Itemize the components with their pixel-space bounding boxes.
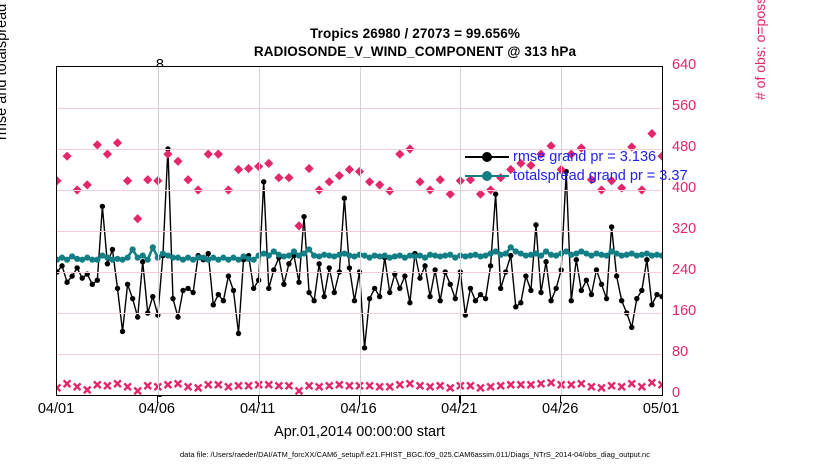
obs-assimilated-marker bbox=[134, 388, 141, 395]
obs-assimilated-marker bbox=[144, 382, 151, 389]
obs-assimilated-marker bbox=[497, 382, 504, 389]
obs-possible-marker bbox=[415, 177, 424, 186]
series-marker bbox=[135, 314, 140, 319]
obs-possible-marker bbox=[214, 150, 223, 159]
series-marker bbox=[185, 286, 190, 291]
series-marker bbox=[498, 286, 503, 291]
legend-item-totalspread[interactable]: totalspread grand pr = 3.37 bbox=[465, 166, 715, 185]
series-marker bbox=[216, 292, 221, 297]
series-marker bbox=[80, 275, 85, 280]
series-marker bbox=[115, 286, 120, 291]
y-axis-right-tick-label: 640 bbox=[672, 57, 722, 73]
series-marker bbox=[377, 294, 382, 299]
series-marker bbox=[553, 286, 558, 291]
y-axis-right-tick-label: 560 bbox=[672, 98, 722, 114]
obs-possible-marker bbox=[83, 180, 92, 189]
series-marker bbox=[251, 257, 257, 263]
series-marker bbox=[332, 290, 337, 295]
series-marker bbox=[74, 265, 79, 270]
obs-possible-marker bbox=[375, 180, 384, 189]
series-marker bbox=[120, 329, 125, 334]
obs-assimilated-marker bbox=[306, 382, 313, 389]
series-marker bbox=[322, 294, 327, 299]
series-marker bbox=[362, 345, 367, 350]
series-marker bbox=[448, 282, 453, 287]
series-marker bbox=[528, 288, 533, 293]
series-marker bbox=[226, 273, 231, 278]
obs-possible-marker bbox=[345, 165, 354, 174]
series-marker bbox=[518, 300, 523, 305]
obs-assimilated-marker bbox=[467, 382, 474, 389]
obs-assimilated-marker bbox=[598, 384, 605, 391]
series-marker bbox=[538, 253, 544, 259]
obs-assimilated-marker bbox=[538, 380, 545, 387]
obs-possible-marker bbox=[123, 176, 132, 185]
obs-possible-marker bbox=[335, 171, 344, 180]
series-marker bbox=[548, 298, 553, 303]
obs-assimilated-marker bbox=[336, 381, 343, 388]
chart-legend: rmse grand pr = 3.136 totalspread grand … bbox=[465, 147, 715, 185]
series-marker bbox=[619, 298, 624, 303]
plot-area: rmse grand pr = 3.136 totalspread grand … bbox=[56, 66, 663, 396]
obs-assimilated-marker bbox=[568, 381, 575, 388]
legend-label-rmse: rmse grand pr = 3.136 bbox=[513, 149, 656, 165]
series-marker bbox=[180, 288, 185, 293]
obs-assimilated-marker bbox=[649, 379, 656, 386]
x-axis-tick-label: 04/11 bbox=[223, 401, 293, 417]
legend-line-sample-totalspread bbox=[465, 169, 509, 183]
series-marker bbox=[367, 296, 372, 301]
series-marker bbox=[190, 290, 195, 295]
series-marker bbox=[569, 298, 574, 303]
series-marker bbox=[589, 292, 594, 297]
series-marker bbox=[64, 280, 69, 285]
series-marker bbox=[599, 282, 604, 287]
series-marker bbox=[503, 250, 509, 256]
series-marker bbox=[130, 246, 136, 252]
series-marker bbox=[634, 296, 639, 301]
series-marker bbox=[306, 246, 312, 252]
series-marker bbox=[604, 296, 609, 301]
obs-assimilated-marker bbox=[628, 380, 635, 387]
obs-possible-marker bbox=[244, 164, 253, 173]
obs-possible-marker bbox=[143, 175, 152, 184]
obs-assimilated-marker bbox=[326, 382, 333, 389]
series-marker bbox=[327, 265, 332, 270]
series-marker bbox=[59, 263, 64, 268]
obs-assimilated-marker bbox=[296, 388, 303, 395]
y-axis-right-tick-label: 0 bbox=[672, 385, 722, 401]
obs-assimilated-marker bbox=[507, 381, 514, 388]
vertical-gridline bbox=[259, 67, 260, 395]
obs-assimilated-marker bbox=[366, 382, 373, 389]
y-axis-right-tick-label: 80 bbox=[672, 344, 722, 360]
series-marker bbox=[407, 300, 412, 305]
y-axis-left-label: rmse and totalspread bbox=[0, 4, 10, 140]
series-marker bbox=[90, 282, 95, 287]
obs-possible-marker bbox=[284, 173, 293, 182]
chart-title-line1: Tropics 26980 / 27073 = 99.656% bbox=[0, 26, 830, 41]
series-marker bbox=[140, 259, 145, 264]
obs-assimilated-marker bbox=[205, 381, 212, 388]
x-axis-tick-label: 04/06 bbox=[122, 401, 192, 417]
obs-possible-marker bbox=[325, 177, 334, 186]
obs-possible-marker bbox=[647, 129, 656, 138]
series-marker bbox=[306, 290, 311, 295]
series-marker bbox=[533, 222, 538, 227]
x-axis-tick-label: 04/01 bbox=[21, 401, 91, 417]
series-marker bbox=[453, 296, 458, 301]
x-axis-tick-label: 04/16 bbox=[324, 401, 394, 417]
series-marker bbox=[644, 257, 649, 262]
obs-possible-marker bbox=[62, 152, 71, 161]
obs-assimilated-marker bbox=[528, 381, 535, 388]
figure-canvas: Tropics 26980 / 27073 = 99.656% RADIOSON… bbox=[0, 0, 830, 470]
series-marker bbox=[427, 294, 432, 299]
obs-assimilated-marker bbox=[437, 382, 444, 389]
y-axis-right-label: # of obs: o=possible; ×=assimilated bbox=[752, 0, 768, 100]
obs-assimilated-marker bbox=[64, 380, 71, 387]
obs-assimilated-marker bbox=[417, 382, 424, 389]
obs-assimilated-marker bbox=[124, 383, 131, 390]
series-marker bbox=[352, 298, 357, 303]
series-marker bbox=[145, 257, 151, 263]
series-marker bbox=[473, 298, 478, 303]
series-marker bbox=[483, 296, 488, 301]
obs-assimilated-marker bbox=[588, 383, 595, 390]
series-marker bbox=[266, 253, 272, 259]
series-marker bbox=[221, 298, 226, 303]
series-marker bbox=[584, 278, 589, 283]
obs-assimilated-marker bbox=[396, 381, 403, 388]
obs-assimilated-marker bbox=[407, 380, 414, 387]
series-marker bbox=[523, 273, 528, 278]
series-marker bbox=[417, 275, 422, 280]
obs-assimilated-marker bbox=[487, 383, 494, 390]
obs-possible-marker bbox=[234, 165, 243, 174]
series-marker bbox=[579, 288, 584, 293]
obs-assimilated-marker bbox=[114, 380, 121, 387]
series-marker bbox=[659, 294, 662, 299]
series-marker bbox=[286, 253, 292, 259]
obs-possible-marker bbox=[204, 150, 213, 159]
series-marker bbox=[316, 261, 321, 266]
series-marker bbox=[402, 273, 407, 278]
series-marker bbox=[124, 255, 130, 261]
obs-possible-marker bbox=[173, 157, 182, 166]
obs-possible-marker bbox=[395, 150, 404, 159]
obs-possible-marker bbox=[294, 221, 303, 230]
series-marker bbox=[493, 191, 498, 196]
obs-assimilated-marker bbox=[225, 383, 232, 390]
series-marker bbox=[236, 331, 241, 336]
obs-assimilated-marker bbox=[618, 383, 625, 390]
series-marker bbox=[342, 196, 347, 201]
series-marker bbox=[140, 253, 146, 259]
series-marker bbox=[291, 248, 297, 254]
series-marker bbox=[538, 290, 543, 295]
series-marker bbox=[372, 286, 377, 291]
series-marker bbox=[513, 304, 518, 309]
x-axis-tick-label: 04/21 bbox=[424, 401, 494, 417]
legend-item-rmse[interactable]: rmse grand pr = 3.136 bbox=[465, 147, 715, 166]
series-marker bbox=[150, 294, 155, 299]
series-marker bbox=[301, 214, 306, 219]
obs-assimilated-marker bbox=[346, 382, 353, 389]
series-marker bbox=[397, 286, 402, 291]
series-marker bbox=[125, 282, 130, 287]
series-marker bbox=[574, 257, 579, 262]
series-marker bbox=[175, 314, 180, 319]
series-marker bbox=[543, 259, 548, 264]
obs-assimilated-marker bbox=[185, 383, 192, 390]
x-axis-tick-mark bbox=[258, 396, 259, 403]
obs-possible-marker bbox=[264, 159, 273, 168]
obs-possible-marker bbox=[183, 175, 192, 184]
obs-assimilated-marker bbox=[447, 384, 454, 391]
series-marker bbox=[614, 273, 619, 278]
series-marker bbox=[105, 261, 110, 266]
series-marker bbox=[206, 251, 211, 256]
x-axis-tick-label: 05/01 bbox=[626, 401, 696, 417]
series-marker bbox=[387, 290, 392, 295]
y-axis-right-tick-label: 240 bbox=[672, 262, 722, 278]
series-marker bbox=[95, 278, 100, 283]
obs-assimilated-marker bbox=[517, 381, 524, 388]
x-axis-tick-mark bbox=[359, 396, 360, 403]
obs-possible-marker bbox=[274, 173, 283, 182]
series-marker bbox=[296, 280, 301, 285]
obs-assimilated-marker bbox=[74, 383, 81, 390]
x-axis-label: Apr.01,2014 00:00:00 start bbox=[56, 424, 663, 440]
series-marker bbox=[301, 250, 307, 256]
obs-assimilated-marker bbox=[286, 382, 293, 389]
vertical-gridline bbox=[158, 67, 159, 395]
legend-label-totalspread: totalspread grand pr = 3.37 bbox=[513, 168, 688, 184]
obs-possible-marker bbox=[385, 186, 394, 195]
obs-assimilated-marker bbox=[235, 382, 242, 389]
obs-assimilated-marker bbox=[57, 384, 60, 391]
series-marker bbox=[347, 265, 352, 270]
obs-possible-marker bbox=[163, 150, 172, 159]
obs-possible-marker bbox=[365, 177, 374, 186]
obs-assimilated-marker bbox=[578, 380, 585, 387]
obs-assimilated-marker bbox=[608, 382, 615, 389]
series-marker bbox=[211, 302, 216, 307]
x-axis-tick-mark bbox=[560, 396, 561, 403]
series-marker bbox=[609, 224, 614, 229]
series-marker bbox=[629, 325, 634, 330]
series-marker bbox=[266, 286, 271, 291]
series-marker bbox=[422, 263, 427, 268]
obs-assimilated-marker bbox=[94, 381, 101, 388]
series-marker bbox=[150, 244, 156, 250]
series-marker bbox=[261, 179, 266, 184]
series-marker bbox=[231, 288, 236, 293]
obs-possible-marker bbox=[103, 150, 112, 159]
obs-assimilated-marker bbox=[175, 380, 182, 387]
y-axis-right-tick-label: 320 bbox=[672, 221, 722, 237]
series-marker bbox=[286, 261, 291, 266]
obs-possible-marker bbox=[113, 138, 122, 147]
obs-assimilated-marker bbox=[84, 386, 91, 393]
x-axis-tick-label: 04/26 bbox=[525, 401, 595, 417]
series-marker bbox=[251, 286, 256, 291]
obs-assimilated-marker bbox=[316, 383, 323, 390]
series-marker bbox=[488, 263, 493, 268]
series-marker bbox=[603, 253, 609, 259]
obs-assimilated-marker bbox=[638, 383, 645, 390]
series-marker bbox=[311, 298, 316, 303]
obs-assimilated-marker bbox=[386, 383, 393, 390]
series-marker bbox=[478, 292, 483, 297]
obs-assimilated-marker bbox=[376, 383, 383, 390]
series-marker bbox=[69, 273, 74, 278]
obs-assimilated-marker bbox=[659, 381, 662, 388]
obs-possible-marker bbox=[57, 176, 62, 185]
series-marker bbox=[110, 247, 115, 252]
obs-assimilated-marker bbox=[195, 384, 202, 391]
obs-possible-marker bbox=[436, 175, 445, 184]
vertical-gridline bbox=[460, 67, 461, 395]
series-marker bbox=[639, 288, 644, 293]
obs-assimilated-marker bbox=[265, 381, 272, 388]
vertical-gridline bbox=[360, 67, 361, 395]
series-marker bbox=[94, 257, 100, 263]
data-file-footer: data file: /Users/raeder/DAI/ATM_forcXX/… bbox=[0, 450, 830, 459]
x-axis-tick-mark bbox=[157, 396, 158, 403]
series-marker bbox=[508, 244, 514, 250]
series-marker bbox=[508, 253, 513, 258]
series-marker bbox=[281, 282, 286, 287]
obs-assimilated-marker bbox=[245, 382, 252, 389]
obs-assimilated-marker bbox=[215, 381, 222, 388]
obs-assimilated-marker bbox=[275, 382, 282, 389]
series-marker bbox=[437, 298, 442, 303]
series-marker bbox=[100, 204, 105, 209]
obs-assimilated-marker bbox=[477, 384, 484, 391]
x-axis-tick-mark bbox=[459, 396, 460, 403]
legend-line-sample-rmse bbox=[465, 150, 509, 164]
obs-assimilated-marker bbox=[427, 383, 434, 390]
series-marker bbox=[654, 292, 659, 297]
obs-assimilated-marker bbox=[548, 379, 555, 386]
obs-possible-marker bbox=[304, 164, 313, 173]
obs-assimilated-marker bbox=[104, 382, 111, 389]
series-marker bbox=[130, 296, 135, 301]
y-axis-right-tick-label: 160 bbox=[672, 303, 722, 319]
vertical-gridline bbox=[561, 67, 562, 395]
series-marker bbox=[170, 296, 175, 301]
series-marker bbox=[649, 302, 654, 307]
series-marker bbox=[468, 286, 473, 291]
obs-possible-marker bbox=[133, 214, 142, 223]
obs-assimilated-marker bbox=[165, 381, 172, 388]
